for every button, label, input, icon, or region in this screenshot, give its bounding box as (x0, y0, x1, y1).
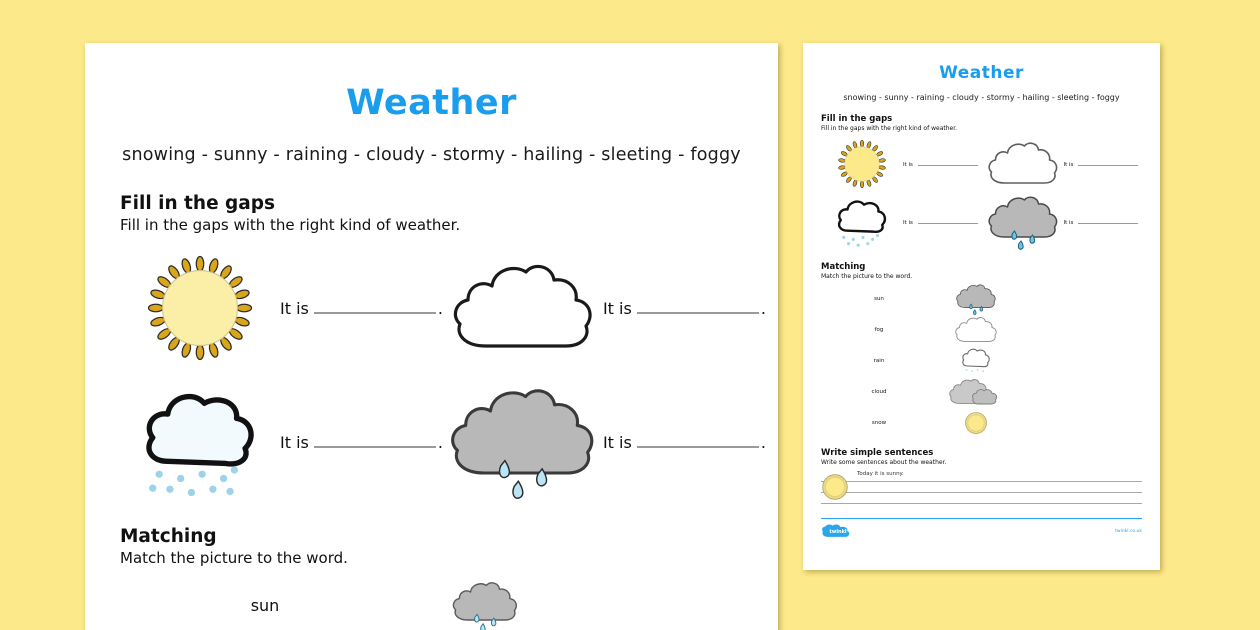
grey-cloud-icon (937, 377, 1015, 407)
fill-gap-item: It is . (443, 248, 766, 368)
thumb-section-fill-gaps: Fill in the gaps Fill in the gaps with t… (821, 114, 1142, 248)
page-footer: twinkl twinkl.co.uk (821, 519, 1142, 539)
worksheet-page-thumbnail[interactable]: Weather snowing - sunny - raining - clou… (803, 43, 1160, 570)
sun-icon (937, 408, 1015, 438)
prompt-text: It is (280, 433, 309, 452)
fill-gap-line: It is (1064, 160, 1141, 168)
fill-gap-line: It is . (603, 433, 766, 452)
period: . (761, 433, 766, 452)
match-word: sun (120, 596, 410, 615)
white-cloud-icon (443, 248, 603, 368)
fill-gap-line: It is (903, 160, 980, 168)
sun-icon (120, 248, 280, 368)
match-word: fog (821, 327, 937, 333)
fill-gap-line: It is . (280, 433, 443, 452)
fill-gap-line: It is . (280, 299, 443, 318)
match-row[interactable]: cloud (821, 376, 1142, 407)
fill-gap-item: It is (982, 196, 1143, 248)
thumb-fill-gaps-heading: Fill in the gaps (821, 114, 1142, 124)
matching-heading: Matching (120, 526, 743, 547)
match-word: cloud (821, 389, 937, 395)
thumb-fill-gaps-instruction: Fill in the gaps with the right kind of … (821, 125, 1142, 132)
fill-gap-line: It is (903, 218, 980, 226)
writing-line[interactable] (821, 493, 1142, 504)
main-content: Fill in the gaps Fill in the gaps with t… (85, 193, 778, 630)
fill-gap-item: It is . (443, 382, 766, 502)
worksheet-page-main[interactable]: Weather snowing - sunny - raining - clou… (85, 43, 778, 630)
prompt-text: It is (280, 299, 309, 318)
fill-gaps-instruction: Fill in the gaps with the right kind of … (120, 216, 743, 234)
sun-icon (821, 138, 903, 190)
snow-cloud-icon (821, 196, 903, 248)
answer-blank[interactable] (1078, 160, 1138, 166)
answer-blank[interactable] (637, 435, 759, 448)
fill-gap-line: It is (1064, 218, 1141, 226)
sentences-instruction: Write some sentences about the weather. (821, 459, 1142, 466)
fill-gap-item: It is (821, 196, 982, 248)
thumb-fill-gaps-grid: It is It is (821, 138, 1142, 248)
match-row[interactable]: fog (821, 314, 1142, 345)
twinkl-logo-text: twinkl (821, 524, 855, 539)
thumb-matching-instruction: Match the picture to the word. (821, 273, 1142, 280)
word-bank: snowing - sunny - raining - cloudy - sto… (85, 145, 778, 165)
answer-blank[interactable] (314, 301, 436, 314)
thumb-matching-rows: sun (821, 283, 1142, 438)
thumb-word-bank: snowing - sunny - raining - cloudy - sto… (803, 93, 1160, 102)
fill-gap-item: It is (982, 138, 1143, 190)
prompt-text: It is (603, 299, 632, 318)
rain-cloud-icon (937, 284, 1015, 314)
thumb-content: Fill in the gaps Fill in the gaps with t… (803, 114, 1160, 539)
matching-rows: sun (120, 575, 743, 630)
fill-gaps-grid: It is . It is (120, 248, 743, 502)
thumb-page-title: Weather (803, 63, 1160, 83)
fog-cloud-icon (937, 315, 1015, 345)
match-row[interactable]: sun (821, 283, 1142, 314)
white-cloud-icon (982, 138, 1064, 190)
answer-blank[interactable] (918, 160, 978, 166)
prompt-text: It is (1064, 162, 1074, 168)
fill-gap-line: It is . (603, 299, 766, 318)
twinkl-logo-icon[interactable]: twinkl (821, 524, 855, 539)
matching-instruction: Match the picture to the word. (120, 549, 743, 567)
prompt-text: It is (603, 433, 632, 452)
thumb-matching-heading: Matching (821, 262, 1142, 272)
rain-cloud-icon (410, 577, 560, 630)
snow-cloud-icon (120, 382, 280, 502)
fill-gap-item: It is (821, 138, 982, 190)
sentence-sample-text: Today it is sunny. (857, 471, 904, 477)
thumb-section-matching: Matching Match the picture to the word. … (821, 262, 1142, 438)
prompt-text: It is (903, 220, 913, 226)
fill-gap-item: It is . (120, 382, 443, 502)
section-fill-gaps: Fill in the gaps Fill in the gaps with t… (120, 193, 743, 502)
rain-cloud-icon (982, 196, 1064, 248)
fill-gaps-heading: Fill in the gaps (120, 193, 743, 214)
sentence-lines[interactable]: Today it is sunny. (821, 471, 1142, 511)
match-row[interactable]: rain (821, 345, 1142, 376)
answer-blank[interactable] (314, 435, 436, 448)
answer-blank[interactable] (918, 218, 978, 224)
period: . (761, 299, 766, 318)
match-word: snow (821, 420, 937, 426)
footer-url: twinkl.co.uk (1115, 529, 1142, 534)
screenshot-stage: Weather snowing - sunny - raining - clou… (0, 0, 1260, 630)
section-matching: Matching Match the picture to the word. … (120, 526, 743, 630)
thumb-section-sentences: Write simple sentences Write some senten… (821, 448, 1142, 539)
match-row[interactable]: sun (120, 575, 743, 630)
fill-gap-item: It is . (120, 248, 443, 368)
prompt-text: It is (903, 162, 913, 168)
writing-line[interactable] (821, 482, 1142, 493)
match-word: rain (821, 358, 937, 364)
prompt-text: It is (1064, 220, 1074, 226)
sun-icon (821, 473, 849, 501)
rain-cloud-icon (443, 382, 603, 502)
match-row[interactable]: snow (821, 407, 1142, 438)
snow-cloud-icon (937, 346, 1015, 376)
answer-blank[interactable] (637, 301, 759, 314)
page-title: Weather (85, 83, 778, 123)
answer-blank[interactable] (1078, 218, 1138, 224)
match-word: sun (821, 296, 937, 302)
sentences-heading: Write simple sentences (821, 448, 1142, 458)
